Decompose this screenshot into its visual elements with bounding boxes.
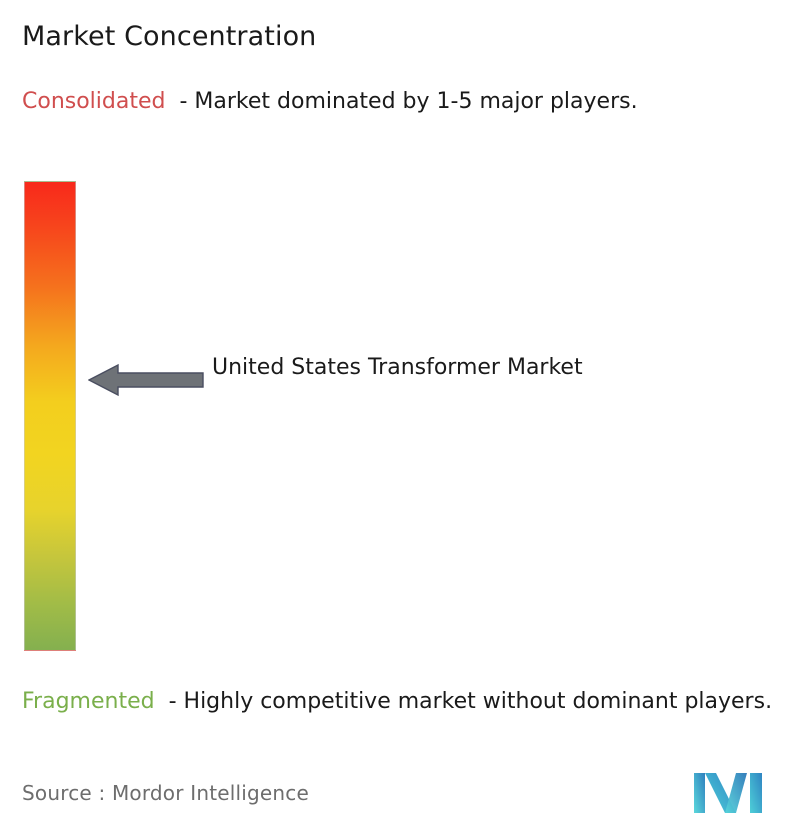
callout-label: United States Transformer Market xyxy=(212,350,642,385)
callout-arrow-icon xyxy=(88,363,204,397)
page-title: Market Concentration xyxy=(22,20,316,54)
legend-fragmented-description: - Highly competitive market without domi… xyxy=(169,689,772,714)
legend-consolidated-term: Consolidated xyxy=(22,89,165,114)
concentration-gradient-bar xyxy=(24,181,76,651)
legend-fragmented: Fragmented - Highly competitive market w… xyxy=(22,686,782,717)
source-note: Source : Mordor Intelligence xyxy=(22,780,309,806)
legend-consolidated-description: - Market dominated by 1-5 major players. xyxy=(179,89,637,114)
legend-consolidated: Consolidated - Market dominated by 1-5 m… xyxy=(22,86,782,117)
legend-fragmented-term: Fragmented xyxy=(22,689,155,714)
mordor-intelligence-logo-icon xyxy=(692,770,774,816)
